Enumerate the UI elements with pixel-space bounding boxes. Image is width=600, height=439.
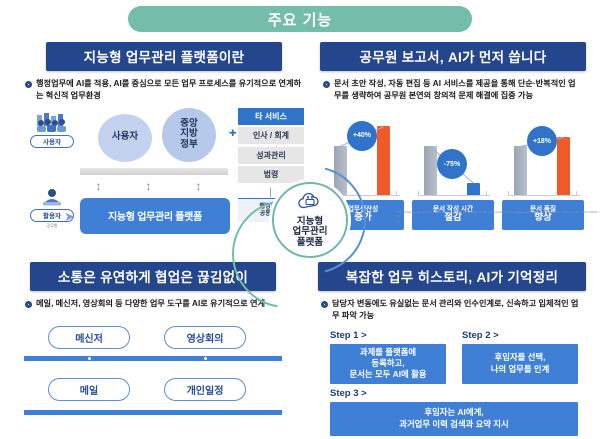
chart-plot: +18% bbox=[502, 108, 584, 196]
diagram-circle-user: 사용자 bbox=[98, 114, 152, 162]
people-group-icon bbox=[22, 110, 82, 134]
chart-plot: -75% bbox=[412, 108, 494, 196]
arrow-up-icon: ↕ bbox=[144, 176, 153, 196]
bullet-dot-icon bbox=[321, 301, 328, 308]
chart-axis-tick bbox=[508, 191, 509, 196]
chart-footnote: Noy, Shakked, and Whitney Zhang. "Experi… bbox=[396, 210, 600, 218]
chart-badge: +40% bbox=[347, 121, 377, 151]
panel-a-bullet: 행정업무에 AI를 적용, AI를 중심으로 모든 업무 프로세스를 유기적으로… bbox=[22, 78, 308, 102]
diagram-rail bbox=[80, 168, 228, 175]
step-3-box: 후임자는 AI에게,과거업무 이력 검색과 요약 지시 bbox=[330, 402, 578, 436]
chart-badge: +18% bbox=[527, 126, 557, 156]
tool-pill-messenger[interactable]: 메신저 bbox=[48, 326, 130, 349]
actor-users-label: 사용자 bbox=[30, 135, 74, 148]
infographic-page: 주요 기능 지능형 업무관리 플랫폼이란 행정업무에 AI를 적용, AI를 중… bbox=[0, 0, 600, 439]
service-item-law: 법령 bbox=[238, 166, 304, 183]
person-laptop-icon bbox=[22, 184, 82, 208]
cloud-ai-icon bbox=[297, 192, 323, 216]
service-item-performance: 성과관리 bbox=[238, 147, 304, 164]
tools-connector-node bbox=[87, 356, 92, 361]
chart-axis bbox=[508, 195, 580, 196]
service-list-header: 타 서비스 bbox=[238, 108, 304, 125]
bar-ai-applied bbox=[377, 126, 390, 196]
chart-axis-tick bbox=[576, 191, 577, 196]
step-2-title: Step 2 > bbox=[462, 330, 499, 341]
tools-connector-bar-bottom bbox=[24, 410, 282, 415]
center-badge-line3: 플랫폼 bbox=[297, 238, 323, 249]
page-title: 주요 기능 bbox=[128, 6, 472, 32]
tool-pill-personal-schedule[interactable]: 개인일정 bbox=[164, 378, 246, 401]
panel-b-title: 공무원 보고서, AI가 먼저 씁니다 bbox=[320, 42, 586, 71]
chart-axis-tick bbox=[486, 191, 487, 196]
bullet-dot-icon bbox=[323, 81, 330, 88]
panel-b-bullet: 문서 초안 작성, 자동 편집 등 AI 서비스를 제공을 통해 단순·반복적인… bbox=[320, 78, 586, 102]
tools-diagram: 메신저 영상회의 메일 개인일정 bbox=[22, 322, 284, 432]
bar-baseline bbox=[424, 146, 437, 196]
arrow-up-icon: ↕ bbox=[94, 176, 103, 196]
panel-d-bullet-text: 담당자 변동에도 유실없는 문서 관리와 인수인계로, 신속하고 입체적인 업무… bbox=[332, 298, 583, 322]
bullet-dot-icon bbox=[25, 81, 32, 88]
panel-a-bullet-text: 행정업무에 AI를 적용, AI를 중심으로 모든 업무 프로세스를 유기적으로… bbox=[36, 78, 305, 102]
chart-axis-tick bbox=[418, 191, 419, 196]
platform-box-label: 지능형 업무관리 플랫폼 bbox=[108, 208, 202, 223]
panel-b-bullet-text: 문서 초안 작성, 자동 편집 등 AI 서비스를 제공을 통해 단순·반복적인… bbox=[334, 78, 583, 102]
panel-work-history: 복잡한 업무 히스토리, AI가 기억정리 담당자 변동에도 유실없는 문서 관… bbox=[318, 262, 586, 439]
bullet-dot-icon bbox=[25, 301, 32, 308]
panel-d-bullet: 담당자 변동에도 유실없는 문서 관리와 인수인계로, 신속하고 입체적인 업무… bbox=[318, 298, 586, 322]
panel-c-bullet-text: 메일, 메신저, 영상회의 등 다양한 업무 도구를 AI로 유기적으로 연계 bbox=[36, 298, 265, 310]
service-item-hr-accounting: 인사 / 회계 bbox=[238, 127, 304, 144]
tool-pill-video-conference[interactable]: 영상회의 bbox=[164, 326, 246, 349]
step-1-title: Step 1 > bbox=[330, 330, 367, 341]
chart-axis bbox=[418, 195, 490, 196]
actor-users: 사용자 bbox=[22, 110, 82, 148]
tools-connector-bar-top bbox=[24, 356, 282, 361]
plus-circle-icon: ✚ bbox=[229, 128, 237, 139]
service-list: 타 서비스 인사 / 회계 성과관리 법령 bbox=[238, 108, 304, 186]
center-platform-badge: 지능형 업무관리 플랫폼 bbox=[272, 182, 348, 258]
diagram-circle-government: 중앙지방정부 bbox=[162, 108, 216, 162]
bar-baseline bbox=[514, 146, 527, 196]
arrow-right-icon: ➤ bbox=[64, 209, 75, 225]
diagram-circle-government-label: 중앙지방정부 bbox=[180, 119, 197, 151]
step-1-box: 과제를 플랫폼에등록하고,문서는 모두 AI에 활용 bbox=[330, 344, 446, 384]
bar-ai-applied bbox=[557, 137, 570, 196]
platform-box: 지능형 업무관리 플랫폼 bbox=[80, 198, 230, 234]
step-3-title: Step 3 > bbox=[330, 388, 367, 399]
page-title-text: 주요 기능 bbox=[268, 9, 332, 30]
panel-c-bullet: 메일, 메신저, 영상회의 등 다양한 업무 도구를 AI로 유기적으로 연계 bbox=[22, 298, 284, 310]
tools-connector-node bbox=[203, 356, 208, 361]
arrow-up-icon: ↕ bbox=[194, 176, 203, 196]
panel-a-title: 지능형 업무관리 플랫폼이란 bbox=[46, 42, 282, 71]
chart-axis-tick bbox=[396, 191, 397, 196]
steps-container: Step 1 > 과제를 플랫폼에등록하고,문서는 모두 AI에 활용 Step… bbox=[318, 330, 586, 439]
tool-pill-mail[interactable]: 메일 bbox=[48, 378, 130, 401]
step-2-box: 후임자를 선택,나의 업무를 인계 bbox=[462, 344, 578, 384]
service-connector bbox=[270, 188, 271, 197]
diagram-circle-user-label: 사용자 bbox=[112, 132, 138, 143]
panel-d-title: 복잡한 업무 히스토리, AI가 기억정리 bbox=[318, 262, 586, 291]
